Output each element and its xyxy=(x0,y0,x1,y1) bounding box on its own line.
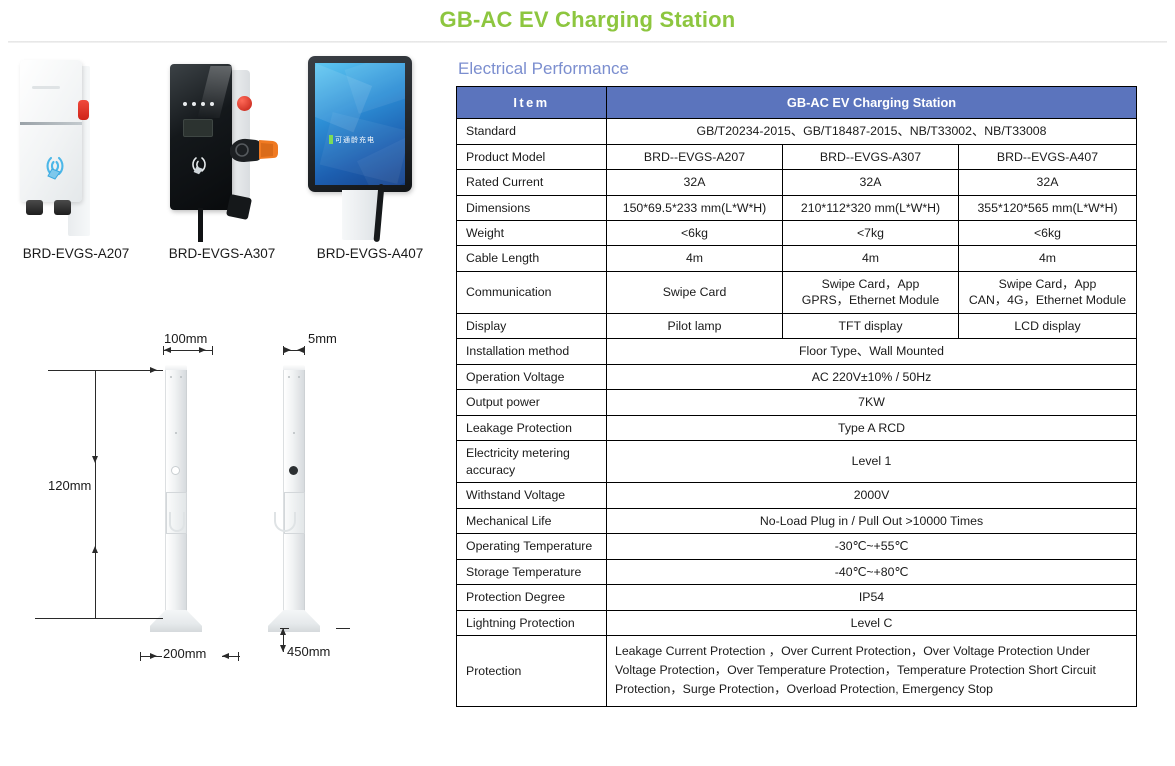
pole-base-plate xyxy=(150,610,202,632)
row-label: Rated Current xyxy=(457,170,607,195)
table-row: Storage Temperature-40℃~+80℃ xyxy=(457,559,1137,584)
dim-450mm-leader xyxy=(336,628,350,629)
row-value-b: TFT display xyxy=(783,313,959,338)
row-value: Leakage Current Protection ，Over Current… xyxy=(607,635,1137,706)
table-row: CommunicationSwipe CardSwipe Card，AppGPR… xyxy=(457,271,1137,313)
table-row: Operation VoltageAC 220V±10% / 50Hz xyxy=(457,364,1137,389)
table-row: Cable Length4m4m4m xyxy=(457,246,1137,271)
pole-cable-hook xyxy=(169,512,185,532)
row-label: Weight xyxy=(457,221,607,246)
row-value: -40℃~+80℃ xyxy=(607,559,1137,584)
dim-200mm-leader xyxy=(35,618,163,619)
table-row: Electricity metering accuracyLevel 1 xyxy=(457,441,1137,483)
row-value-c: <6kg xyxy=(959,221,1137,246)
table-row: Withstand Voltage2000V xyxy=(457,483,1137,508)
row-value: Floor Type、Wall Mounted xyxy=(607,339,1137,364)
table-body: StandardGB/T20234-2015、GB/T18487-2015、NB… xyxy=(457,119,1137,707)
table-row: DisplayPilot lampTFT displayLCD display xyxy=(457,313,1137,338)
dim-120mm-line xyxy=(95,370,96,618)
a407-pedestal xyxy=(342,190,378,240)
row-value: Level C xyxy=(607,610,1137,635)
row-value-b: BRD--EVGS-A307 xyxy=(783,144,959,169)
a407-screen-text: 可通龄充电 xyxy=(335,135,375,145)
product-card-a207: BRD-EVGS-A207 xyxy=(6,48,146,278)
table-row: Product ModelBRD--EVGS-A207BRD--EVGS-A30… xyxy=(457,144,1137,169)
row-value-a: <6kg xyxy=(607,221,783,246)
row-value: IP54 xyxy=(607,585,1137,610)
a307-gun-holster xyxy=(226,194,252,220)
table-row: Lightning ProtectionLevel C xyxy=(457,610,1137,635)
product-caption-a207: BRD-EVGS-A207 xyxy=(0,246,154,261)
product-gallery: BRD-EVGS-A207 xyxy=(0,48,450,278)
row-value: AC 220V±10% / 50Hz xyxy=(607,364,1137,389)
a207-cable-glands xyxy=(24,200,76,218)
row-label: Operation Voltage xyxy=(457,364,607,389)
rfid-wave-icon xyxy=(38,152,72,186)
section-heading-electrical-performance: Electrical Performance xyxy=(458,58,1146,80)
row-label: Communication xyxy=(457,271,607,313)
table-header-row: Item GB-AC EV Charging Station xyxy=(457,87,1137,119)
product-image-a407: 可通龄充电 xyxy=(300,48,440,243)
row-label: Storage Temperature xyxy=(457,559,607,584)
row-label: Cable Length xyxy=(457,246,607,271)
row-value-c: 355*120*565 mm(L*W*H) xyxy=(959,195,1137,220)
page-root: GB-AC EV Charging Station xyxy=(0,0,1175,766)
pole-cable-hole xyxy=(289,466,298,475)
row-label: Leakage Protection xyxy=(457,415,607,440)
product-image-a207 xyxy=(6,48,146,243)
dim-120mm-top-leader xyxy=(48,370,163,371)
a307-glass-reflection xyxy=(198,66,233,118)
row-label: Standard xyxy=(457,119,607,144)
row-value-a: 32A xyxy=(607,170,783,195)
row-value-c: BRD--EVGS-A407 xyxy=(959,144,1137,169)
table-row: Installation methodFloor Type、Wall Mount… xyxy=(457,339,1137,364)
pole-base-plate xyxy=(268,610,320,632)
row-value: 7KW xyxy=(607,390,1137,415)
row-value-c: 4m xyxy=(959,246,1137,271)
row-value-a: BRD--EVGS-A207 xyxy=(607,144,783,169)
pole-cable-hole xyxy=(171,466,180,475)
row-value-a: 4m xyxy=(607,246,783,271)
row-label: Display xyxy=(457,313,607,338)
dimension-drawings: 100mm 120mm 200mm xyxy=(0,328,450,748)
dim-label-200mm: 200mm xyxy=(163,646,206,661)
left-column: BRD-EVGS-A207 xyxy=(0,48,450,760)
table-header-item: Item xyxy=(457,87,607,119)
row-value-a: Swipe Card xyxy=(607,271,783,313)
row-value-b: Swipe Card，AppGPRS，Ethernet Module xyxy=(783,271,959,313)
row-label: Lightning Protection xyxy=(457,610,607,635)
row-value-b: 32A xyxy=(783,170,959,195)
dim-label-5mm: 5mm xyxy=(308,331,337,346)
table-row: Output power7KW xyxy=(457,390,1137,415)
a307-charging-gun xyxy=(228,134,280,168)
product-card-a407: 可通龄充电 BRD-EVGS-A407 xyxy=(300,48,440,278)
product-caption-a307: BRD-EVGS-A307 xyxy=(144,246,300,261)
right-column: Electrical Performance Item GB-AC EV Cha… xyxy=(456,58,1146,707)
table-row: Operating Temperature-30℃~+55℃ xyxy=(457,534,1137,559)
row-value: Type A RCD xyxy=(607,415,1137,440)
table-row: Rated Current32A32A32A xyxy=(457,170,1137,195)
table-header-product: GB-AC EV Charging Station xyxy=(607,87,1137,119)
table-row: Leakage ProtectionType A RCD xyxy=(457,415,1137,440)
row-label: Product Model xyxy=(457,144,607,169)
title-divider xyxy=(8,41,1167,43)
row-value-a: 150*69.5*233 mm(L*W*H) xyxy=(607,195,783,220)
product-card-a307: BRD-EVGS-A307 xyxy=(152,48,292,278)
a207-vent-slot xyxy=(32,86,60,89)
row-label: Dimensions xyxy=(457,195,607,220)
row-value: Level 1 xyxy=(607,441,1137,483)
a407-lcd-screen: 可通龄充电 xyxy=(315,63,405,185)
dim-label-120mm: 120mm xyxy=(48,478,91,493)
page-title: GB-AC EV Charging Station xyxy=(0,2,1175,38)
row-value-b: <7kg xyxy=(783,221,959,246)
row-value-b: 210*112*320 mm(L*W*H) xyxy=(783,195,959,220)
dim-label-100mm: 100mm xyxy=(164,331,207,346)
table-row: Weight<6kg<7kg<6kg xyxy=(457,221,1137,246)
a407-display-bezel: 可通龄充电 xyxy=(308,56,412,192)
table-row: ProtectionLeakage Current Protection ，Ov… xyxy=(457,635,1137,706)
row-label: Electricity metering accuracy xyxy=(457,441,607,483)
table-row: Mechanical LifeNo-Load Plug in / Pull Ou… xyxy=(457,508,1137,533)
table-row: Dimensions150*69.5*233 mm(L*W*H)210*112*… xyxy=(457,195,1137,220)
row-value-b: 4m xyxy=(783,246,959,271)
table-row: StandardGB/T20234-2015、GB/T18487-2015、NB… xyxy=(457,119,1137,144)
table-row: Protection DegreeIP54 xyxy=(457,585,1137,610)
a407-screen-accent-bar xyxy=(329,135,333,144)
row-value-a: Pilot lamp xyxy=(607,313,783,338)
a307-emergency-stop-button xyxy=(237,96,252,111)
row-label: Withstand Voltage xyxy=(457,483,607,508)
row-label: Operating Temperature xyxy=(457,534,607,559)
row-value: 2000V xyxy=(607,483,1137,508)
row-value: -30℃~+55℃ xyxy=(607,534,1137,559)
row-label: Installation method xyxy=(457,339,607,364)
specification-table: Item GB-AC EV Charging Station StandardG… xyxy=(456,86,1137,707)
a207-panel-seam xyxy=(20,122,82,125)
a307-indicator-dots xyxy=(183,102,223,107)
row-value-c: Swipe Card，AppCAN，4G，Ethernet Module xyxy=(959,271,1137,313)
row-label: Protection xyxy=(457,635,607,706)
row-value-c: LCD display xyxy=(959,313,1137,338)
product-image-a307 xyxy=(152,48,292,243)
rfid-wave-icon xyxy=(186,154,212,180)
dim-label-450mm: 450mm xyxy=(287,644,330,659)
row-label: Output power xyxy=(457,390,607,415)
product-caption-a407: BRD-EVGS-A407 xyxy=(292,246,448,261)
row-value-c: 32A xyxy=(959,170,1137,195)
a307-front-panel xyxy=(170,64,232,210)
a307-cable xyxy=(198,208,203,242)
row-label: Protection Degree xyxy=(457,585,607,610)
a207-status-led xyxy=(78,100,89,120)
a307-lcd-window xyxy=(183,119,213,137)
row-label: Mechanical Life xyxy=(457,508,607,533)
a207-housing xyxy=(20,60,82,202)
row-value: GB/T20234-2015、GB/T18487-2015、NB/T33002、… xyxy=(607,119,1137,144)
row-value: No-Load Plug in / Pull Out >10000 Times xyxy=(607,508,1137,533)
